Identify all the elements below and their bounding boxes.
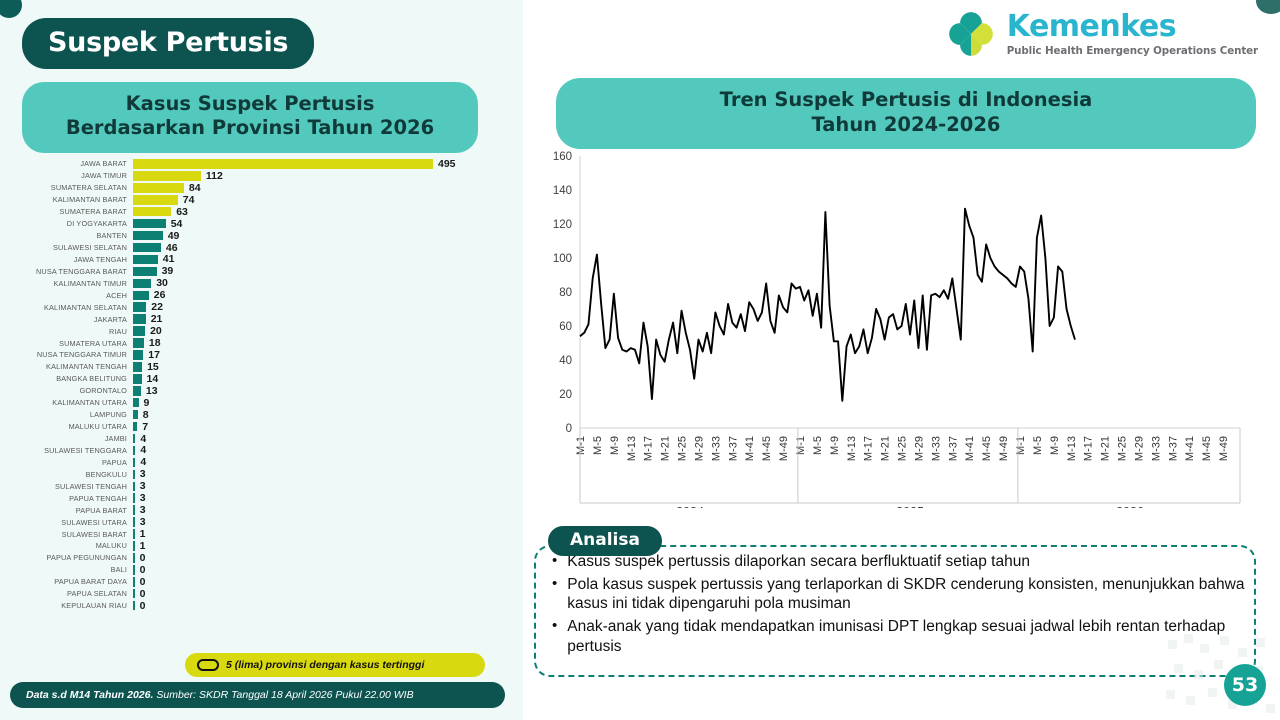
bar-label: PAPUA TENGAH [20,494,133,503]
bar-track: 3 [133,504,510,516]
bar-value: 13 [146,385,158,397]
bar-row: JAKARTA21 [20,313,510,325]
x-axis-tick-label: M-21 [1100,436,1112,461]
bar-track: 4 [133,456,510,468]
bar-label: SULAWESI UTARA [20,518,133,527]
kemenkes-pinwheel-icon [945,8,997,60]
bar-track: 0 [133,600,510,612]
x-axis-tick-label: M-9 [829,436,841,455]
x-axis-tick-label: M-33 [710,436,722,461]
x-axis-tick-label: M-9 [1049,436,1061,455]
decorative-dot-top-right [1256,0,1280,14]
bar-value: 74 [183,194,195,206]
bar-track: 14 [133,373,510,385]
bar-label: JAWA BARAT [20,159,133,168]
bar-fill [133,326,145,336]
bar-fill [133,553,135,563]
bar-label: SUMATERA BARAT [20,207,133,216]
x-axis-tick-label: M-49 [1218,436,1230,461]
bar-track: 49 [133,230,510,242]
bar-track: 0 [133,552,510,564]
bar-value: 4 [140,456,146,468]
x-axis-tick-label: M-29 [914,436,926,461]
bar-value: 3 [140,468,146,480]
bar-row: SULAWESI UTARA3 [20,516,510,528]
x-axis-tick-label: M-33 [1150,436,1162,461]
bar-value: 30 [156,277,168,289]
bar-label: KALIMANTAN TENGAH [20,362,133,371]
bar-fill [133,195,178,205]
bar-row: MALUKU1 [20,540,510,552]
bar-row: JAWA BARAT495 [20,158,510,170]
analisa-item-text: Anak-anak yang tidak mendapatkan imunisa… [567,617,1252,656]
bar-label: KALIMANTAN SELATAN [20,303,133,312]
analisa-item-text: Pola kasus suspek pertussis yang terlapo… [567,575,1252,614]
bar-value: 0 [140,600,146,612]
bar-label: SUMATERA UTARA [20,339,133,348]
bar-track: 54 [133,218,510,230]
bar-label: RIAU [20,327,133,336]
x-axis-tick-label: M-49 [778,436,790,461]
bar-track: 8 [133,409,510,421]
bar-row: MALUKU UTARA7 [20,421,510,433]
bar-label: JAKARTA [20,315,133,324]
bar-row: LAMPUNG8 [20,409,510,421]
bar-label: PAPUA [20,458,133,467]
bar-row: KALIMANTAN SELATAN22 [20,301,510,313]
bar-fill [133,482,135,492]
page-title: Suspek Pertusis [22,18,314,69]
legend-label: 5 (lima) provinsi dengan kasus tertinggi [226,659,424,671]
bar-row: KALIMANTAN TENGAH15 [20,361,510,373]
bar-row: NUSA TENGGARA BARAT39 [20,265,510,277]
bar-row: BALI0 [20,564,510,576]
bar-row: PAPUA SELATAN0 [20,588,510,600]
bar-track: 21 [133,313,510,325]
x-axis-tick-label: M-17 [1083,436,1095,461]
x-axis-tick-label: M-13 [846,436,858,461]
logo-subtitle: Public Health Emergency Operations Cente… [1007,45,1258,57]
source-footer: Data s.d M14 Tahun 2026. Sumber: SKDR Ta… [10,682,505,708]
bar-fill [133,422,137,432]
x-axis-tick-label: M-13 [1066,436,1078,461]
bar-fill [133,386,141,396]
x-axis-tick-label: M-5 [1032,436,1044,455]
bar-row: SULAWESI TENGGARA4 [20,445,510,457]
bar-value: 20 [150,325,162,337]
x-axis-tick-label: M-37 [1167,436,1179,461]
y-axis-tick-label: 100 [553,253,572,265]
line-chart-title-line2: Tahun 2024-2026 [566,112,1246,137]
y-axis-tick-label: 160 [553,151,572,163]
x-axis-tick-label: M-29 [694,436,706,461]
rounded-rect-chip-icon [197,659,219,671]
bar-track: 0 [133,588,510,600]
bar-fill [133,541,135,551]
bar-track: 39 [133,265,510,277]
bar-fill [133,207,171,217]
bar-track: 3 [133,468,510,480]
bar-fill [133,171,201,181]
bar-fill [133,159,433,169]
bar-value: 63 [176,206,188,218]
x-axis-year-label: 2024 [676,505,704,508]
bar-label: MALUKU UTARA [20,422,133,431]
bar-track: 1 [133,528,510,540]
bar-row: SULAWESI BARAT1 [20,528,510,540]
footer-data-period: Data s.d M14 Tahun 2026. [26,689,153,701]
y-axis-tick-label: 120 [553,219,572,231]
x-axis-tick-label: M-29 [1134,436,1146,461]
analisa-tag: Analisa [548,526,662,556]
bar-value: 3 [140,516,146,528]
x-axis-tick-label: M-45 [761,436,773,461]
bar-label: BENGKULU [20,470,133,479]
bar-label: SULAWESI BARAT [20,530,133,539]
bar-track: 4 [133,433,510,445]
x-axis-tick-label: M-17 [863,436,875,461]
bar-row: KALIMANTAN UTARA9 [20,397,510,409]
x-axis-tick-label: M-37 [727,436,739,461]
bar-fill [133,302,146,312]
bar-track: 30 [133,277,510,289]
x-axis-tick-label: M-25 [1117,436,1129,461]
bar-track: 15 [133,361,510,373]
bar-label: DI YOGYAKARTA [20,219,133,228]
bar-label: ACEH [20,291,133,300]
bar-value: 8 [143,409,149,421]
bar-chart-title-line2: Berdasarkan Provinsi Tahun 2026 [32,116,468,140]
bar-fill [133,577,135,587]
bar-row: BANGKA BELITUNG14 [20,373,510,385]
bar-label: PAPUA SELATAN [20,589,133,598]
bar-row: SULAWESI TENGAH3 [20,480,510,492]
bar-track: 18 [133,337,510,349]
x-axis-tick-label: M-17 [643,436,655,461]
bar-row: NUSA TENGGARA TIMUR17 [20,349,510,361]
bar-label: SULAWESI SELATAN [20,243,133,252]
y-axis-tick-label: 140 [553,185,572,197]
bar-row: SULAWESI SELATAN46 [20,242,510,254]
bar-fill [133,255,158,265]
bullet-icon: • [552,617,557,656]
bar-track: 46 [133,242,510,254]
bar-value: 84 [189,182,201,194]
bar-row: PAPUA PEGUNUNGAN0 [20,552,510,564]
x-axis-tick-label: M-25 [677,436,689,461]
bar-fill [133,362,142,372]
bar-label: NUSA TENGGARA BARAT [20,267,133,276]
bullet-icon: • [552,575,557,614]
bar-fill [133,589,135,599]
x-axis-tick-label: M-41 [964,436,976,461]
bar-value: 1 [140,528,146,540]
x-axis-year-label: 2025 [896,505,924,508]
bar-label: SULAWESI TENGGARA [20,446,133,455]
bar-fill [133,493,135,503]
bar-fill [133,565,135,575]
bar-label: BANTEN [20,231,133,240]
bar-label: BANGKA BELITUNG [20,374,133,383]
bar-value: 46 [166,242,178,254]
bar-row: PAPUA BARAT3 [20,504,510,516]
bar-track: 0 [133,576,510,588]
bar-fill [133,183,184,193]
bar-row: KALIMANTAN BARAT74 [20,194,510,206]
bar-label: SULAWESI TENGAH [20,482,133,491]
bar-value: 17 [148,349,160,361]
bar-fill [133,529,135,539]
bar-track: 4 [133,444,510,456]
x-axis-tick-label: M-5 [812,436,824,455]
page-number-badge: 53 [1224,664,1266,706]
bar-value: 22 [151,301,163,313]
bar-label: KALIMANTAN TIMUR [20,279,133,288]
bar-value: 14 [147,373,159,385]
bar-row: SUMATERA UTARA18 [20,337,510,349]
bar-value: 49 [168,230,180,242]
bar-fill [133,505,135,515]
bar-label: LAMPUNG [20,410,133,419]
logo-text-block: Kemenkes Public Health Emergency Operati… [1007,12,1258,57]
x-axis-tick-label: M-45 [1201,436,1213,461]
bar-value: 54 [171,218,183,230]
y-axis-tick-label: 40 [559,355,572,367]
bar-track: 13 [133,385,510,397]
bar-row: KEPULAUAN RIAU0 [20,600,510,612]
bar-value: 21 [151,313,163,325]
legend-top5: 5 (lima) provinsi dengan kasus tertinggi [185,653,485,677]
bar-fill [133,470,135,480]
bar-value: 495 [438,158,456,170]
y-axis-tick-label: 80 [559,287,572,299]
logo-title: Kemenkes [1007,12,1258,42]
bar-row: JAWA TIMUR112 [20,170,510,182]
bar-value: 112 [206,170,223,182]
bar-value: 41 [163,253,175,265]
bar-row: BANTEN49 [20,230,510,242]
bar-chart-title: Kasus Suspek Pertusis Berdasarkan Provin… [22,82,478,153]
bar-row: PAPUA TENGAH3 [20,492,510,504]
bar-value: 4 [140,433,146,445]
x-axis-tick-label: M-1 [1015,436,1027,455]
bar-track: 26 [133,289,510,301]
bar-track: 9 [133,397,510,409]
slide-root: Suspek Pertusis Kasus Suspek Pertusis Be… [0,0,1280,720]
y-axis-tick-label: 60 [559,321,572,333]
analisa-item: •Anak-anak yang tidak mendapatkan imunis… [552,617,1252,656]
bar-label: KALIMANTAN UTARA [20,398,133,407]
bar-fill [133,446,135,456]
x-axis-tick-label: M-49 [998,436,1010,461]
bar-value: 3 [140,492,146,504]
bar-value: 0 [140,552,146,564]
bar-fill [133,314,146,324]
bar-row: SUMATERA SELATAN84 [20,182,510,194]
bar-track: 7 [133,421,510,433]
line-chart-title: Tren Suspek Pertusis di Indonesia Tahun … [556,78,1256,149]
bar-value: 39 [162,265,174,277]
analisa-list: •Kasus suspek pertussis dilaporkan secar… [552,552,1252,659]
bar-label: GORONTALO [20,386,133,395]
bar-fill [133,219,166,229]
bar-fill [133,279,151,289]
bar-track: 1 [133,540,510,552]
bar-fill [133,291,149,301]
bar-label: NUSA TENGGARA TIMUR [20,350,133,359]
bar-value: 7 [142,421,148,433]
bar-track: 74 [133,194,510,206]
bar-row: PAPUA BARAT DAYA0 [20,576,510,588]
bar-track: 20 [133,325,510,337]
x-axis-tick-label: M-25 [897,436,909,461]
bar-track: 3 [133,480,510,492]
bar-label: JAWA TENGAH [20,255,133,264]
bar-row: DI YOGYAKARTA54 [20,218,510,230]
bar-label: BALI [20,565,133,574]
bar-row: ACEH26 [20,289,510,301]
y-axis-tick-label: 0 [566,423,572,435]
bar-track: 495 [133,158,510,170]
footer-source: Sumber: SKDR Tanggal 18 April 2026 Pukul… [156,689,413,701]
bar-label: JAMBI [20,434,133,443]
bar-label: PAPUA BARAT [20,506,133,515]
bar-row: SUMATERA BARAT63 [20,206,510,218]
x-axis-tick-label: M-21 [880,436,892,461]
bar-fill [133,410,138,420]
bar-row: BENGKULU3 [20,468,510,480]
bar-row: PAPUA4 [20,456,510,468]
bar-track: 3 [133,492,510,504]
bar-value: 1 [140,540,146,552]
bar-track: 17 [133,349,510,361]
x-axis-tick-label: M-37 [947,436,959,461]
bar-row: GORONTALO13 [20,385,510,397]
bar-fill [133,374,142,384]
analisa-item: •Pola kasus suspek pertussis yang terlap… [552,575,1252,614]
bar-fill [133,350,143,360]
bar-value: 0 [140,576,146,588]
bar-fill [133,434,135,444]
bar-track: 41 [133,253,510,265]
bar-track: 0 [133,564,510,576]
bar-fill [133,458,135,468]
bar-label: KALIMANTAN BARAT [20,195,133,204]
bar-track: 84 [133,182,510,194]
bar-value: 3 [140,504,146,516]
bar-value: 15 [147,361,159,373]
bar-track: 3 [133,516,510,528]
bar-fill [133,231,163,241]
bar-fill [133,338,144,348]
bar-value: 18 [149,337,161,349]
bar-row: RIAU20 [20,325,510,337]
bar-value: 0 [140,564,146,576]
x-axis-tick-label: M-9 [609,436,621,455]
bar-row: KALIMANTAN TIMUR30 [20,277,510,289]
x-axis-tick-label: M-41 [1184,436,1196,461]
x-axis-tick-label: M-13 [626,436,638,461]
bar-label: KEPULAUAN RIAU [20,601,133,610]
x-axis-tick-label: M-5 [592,436,604,455]
x-axis-year-label: 2026 [1116,505,1144,508]
trend-line-chart: 020406080100120140160M-1M-5M-9M-13M-17M-… [534,148,1246,508]
bar-label: SUMATERA SELATAN [20,183,133,192]
line-chart-title-line1: Tren Suspek Pertusis di Indonesia [566,87,1246,112]
bar-fill [133,267,157,277]
bar-chart-title-line1: Kasus Suspek Pertusis [32,92,468,116]
province-bar-chart: JAWA BARAT495JAWA TIMUR112SUMATERA SELAT… [20,158,510,612]
bar-fill [133,243,161,253]
bar-value: 3 [140,480,146,492]
bar-label: PAPUA BARAT DAYA [20,577,133,586]
bar-fill [133,601,135,611]
x-axis-tick-label: M-1 [795,436,807,455]
bar-value: 0 [140,588,146,600]
x-axis-tick-label: M-41 [744,436,756,461]
x-axis-tick-label: M-45 [981,436,993,461]
x-axis-tick-label: M-1 [575,436,587,455]
bar-value: 9 [144,397,150,409]
bar-fill [133,398,139,408]
bar-label: PAPUA PEGUNUNGAN [20,553,133,562]
bar-label: MALUKU [20,541,133,550]
bar-track: 112 [133,170,510,182]
bar-row: JAWA TENGAH41 [20,254,510,266]
kemenkes-logo: Kemenkes Public Health Emergency Operati… [945,8,1258,60]
trend-line [580,209,1075,401]
x-axis-tick-label: M-33 [930,436,942,461]
y-axis-tick-label: 20 [559,389,572,401]
bar-track: 22 [133,301,510,313]
bar-value: 26 [154,289,166,301]
bar-fill [133,517,135,527]
bar-track: 63 [133,206,510,218]
bar-row: JAMBI4 [20,433,510,445]
bar-label: JAWA TIMUR [20,171,133,180]
x-axis-tick-label: M-21 [660,436,672,461]
bar-value: 4 [140,444,146,456]
analisa-item: •Kasus suspek pertussis dilaporkan secar… [552,552,1252,572]
